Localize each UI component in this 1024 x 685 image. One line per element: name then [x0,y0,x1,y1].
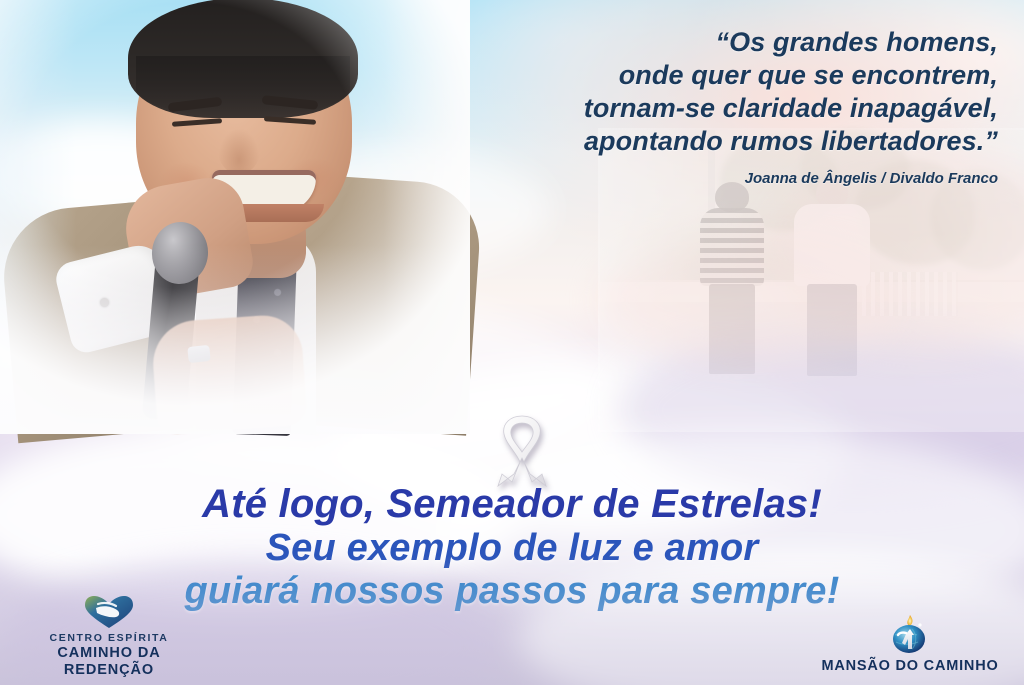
quote-attribution: Joanna de Ângelis / Divaldo Franco [438,170,998,187]
quote-line-3: tornam-se claridade inapagável, [438,92,998,125]
headline-block: Até logo, Semeador de Estrelas! Seu exem… [0,484,1024,610]
quote-line-2: onde quer que se encontrem, [438,59,998,92]
logo-left-line-2: CAMINHO DA REDENÇÃO [14,645,204,679]
quote-line-1: “Os grandes homens, [438,26,998,59]
logo-mansao-do-caminho: MANSÃO DO CAMINHO [810,615,1010,675]
globe-figure-icon [887,615,933,655]
holding-hand [150,313,307,435]
logo-centro-espirita: CENTRO ESPÍRITA CAMINHO DA REDENÇÃO [14,595,204,679]
logo-right-line-1: MANSÃO DO CAMINHO [810,658,1010,675]
headline-line-2: Seu exemplo de luz e amor [0,529,1024,568]
portrait-photo [0,0,460,424]
hair [128,0,358,118]
headline-line-1: Até logo, Semeador de Estrelas! [0,484,1024,525]
logo-left-line-1: CENTRO ESPÍRITA [14,632,204,645]
memorial-poster: “Os grandes homens, onde quer que se enc… [0,0,1024,685]
white-ribbon-icon [484,408,560,490]
quote-line-4: apontando rumos libertadores.” [438,125,998,158]
quote-block: “Os grandes homens, onde quer que se enc… [438,26,998,187]
heart-hands-icon [83,595,135,629]
